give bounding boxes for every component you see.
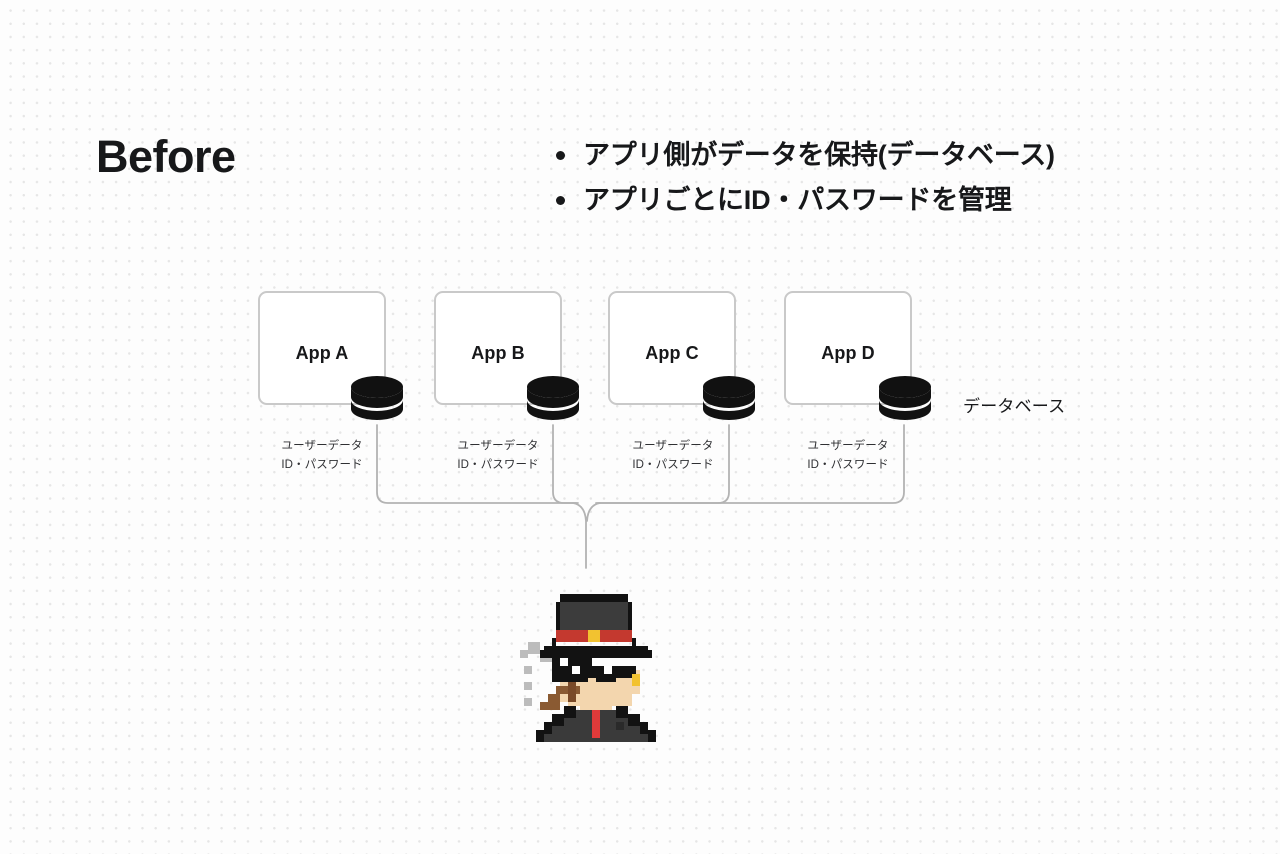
app-label: App A (260, 343, 384, 364)
bullet-dot-icon (556, 151, 565, 160)
bullet-list: アプリ側がデータを保持(データベース) アプリごとにID・パスワードを管理 (556, 138, 1236, 227)
database-cylinder-icon (877, 375, 933, 423)
database-caption: データベース (963, 392, 1065, 417)
app-data-label: ユーザーデータ ID・パスワード (242, 437, 402, 474)
data-line-users: ユーザーデータ (768, 437, 928, 456)
connector-merge-left (573, 503, 586, 568)
app-data-label: ユーザーデータ ID・パスワード (593, 437, 753, 474)
app-data-label: ユーザーデータ ID・パスワード (768, 437, 928, 474)
app-label: App B (436, 343, 560, 364)
database-cylinder-icon (701, 375, 757, 423)
data-line-credentials: ID・パスワード (242, 456, 402, 475)
bullet-text: アプリごとにID・パスワードを管理 (583, 183, 1012, 219)
list-item: アプリごとにID・パスワードを管理 (556, 183, 1236, 219)
data-line-credentials: ID・パスワード (418, 456, 578, 475)
list-item: アプリ側がデータを保持(データベース) (556, 138, 1236, 174)
slide-canvas: Before アプリ側がデータを保持(データベース) アプリごとにID・パスワー… (0, 0, 1280, 854)
database-cylinder-icon (349, 375, 405, 423)
app-label: App D (786, 343, 910, 364)
data-line-credentials: ID・パスワード (593, 456, 753, 475)
data-line-credentials: ID・パスワード (768, 456, 928, 475)
bullet-text: アプリ側がデータを保持(データベース) (583, 138, 1055, 174)
connector-merge-right (587, 503, 600, 521)
data-line-users: ユーザーデータ (593, 437, 753, 456)
bullet-dot-icon (556, 196, 565, 205)
data-line-users: ユーザーデータ (242, 437, 402, 456)
app-data-label: ユーザーデータ ID・パスワード (418, 437, 578, 474)
app-label: App C (610, 343, 734, 364)
pixel-detective-avatar (516, 586, 672, 742)
data-line-users: ユーザーデータ (418, 437, 578, 456)
page-title: Before (96, 132, 236, 182)
database-cylinder-icon (525, 375, 581, 423)
